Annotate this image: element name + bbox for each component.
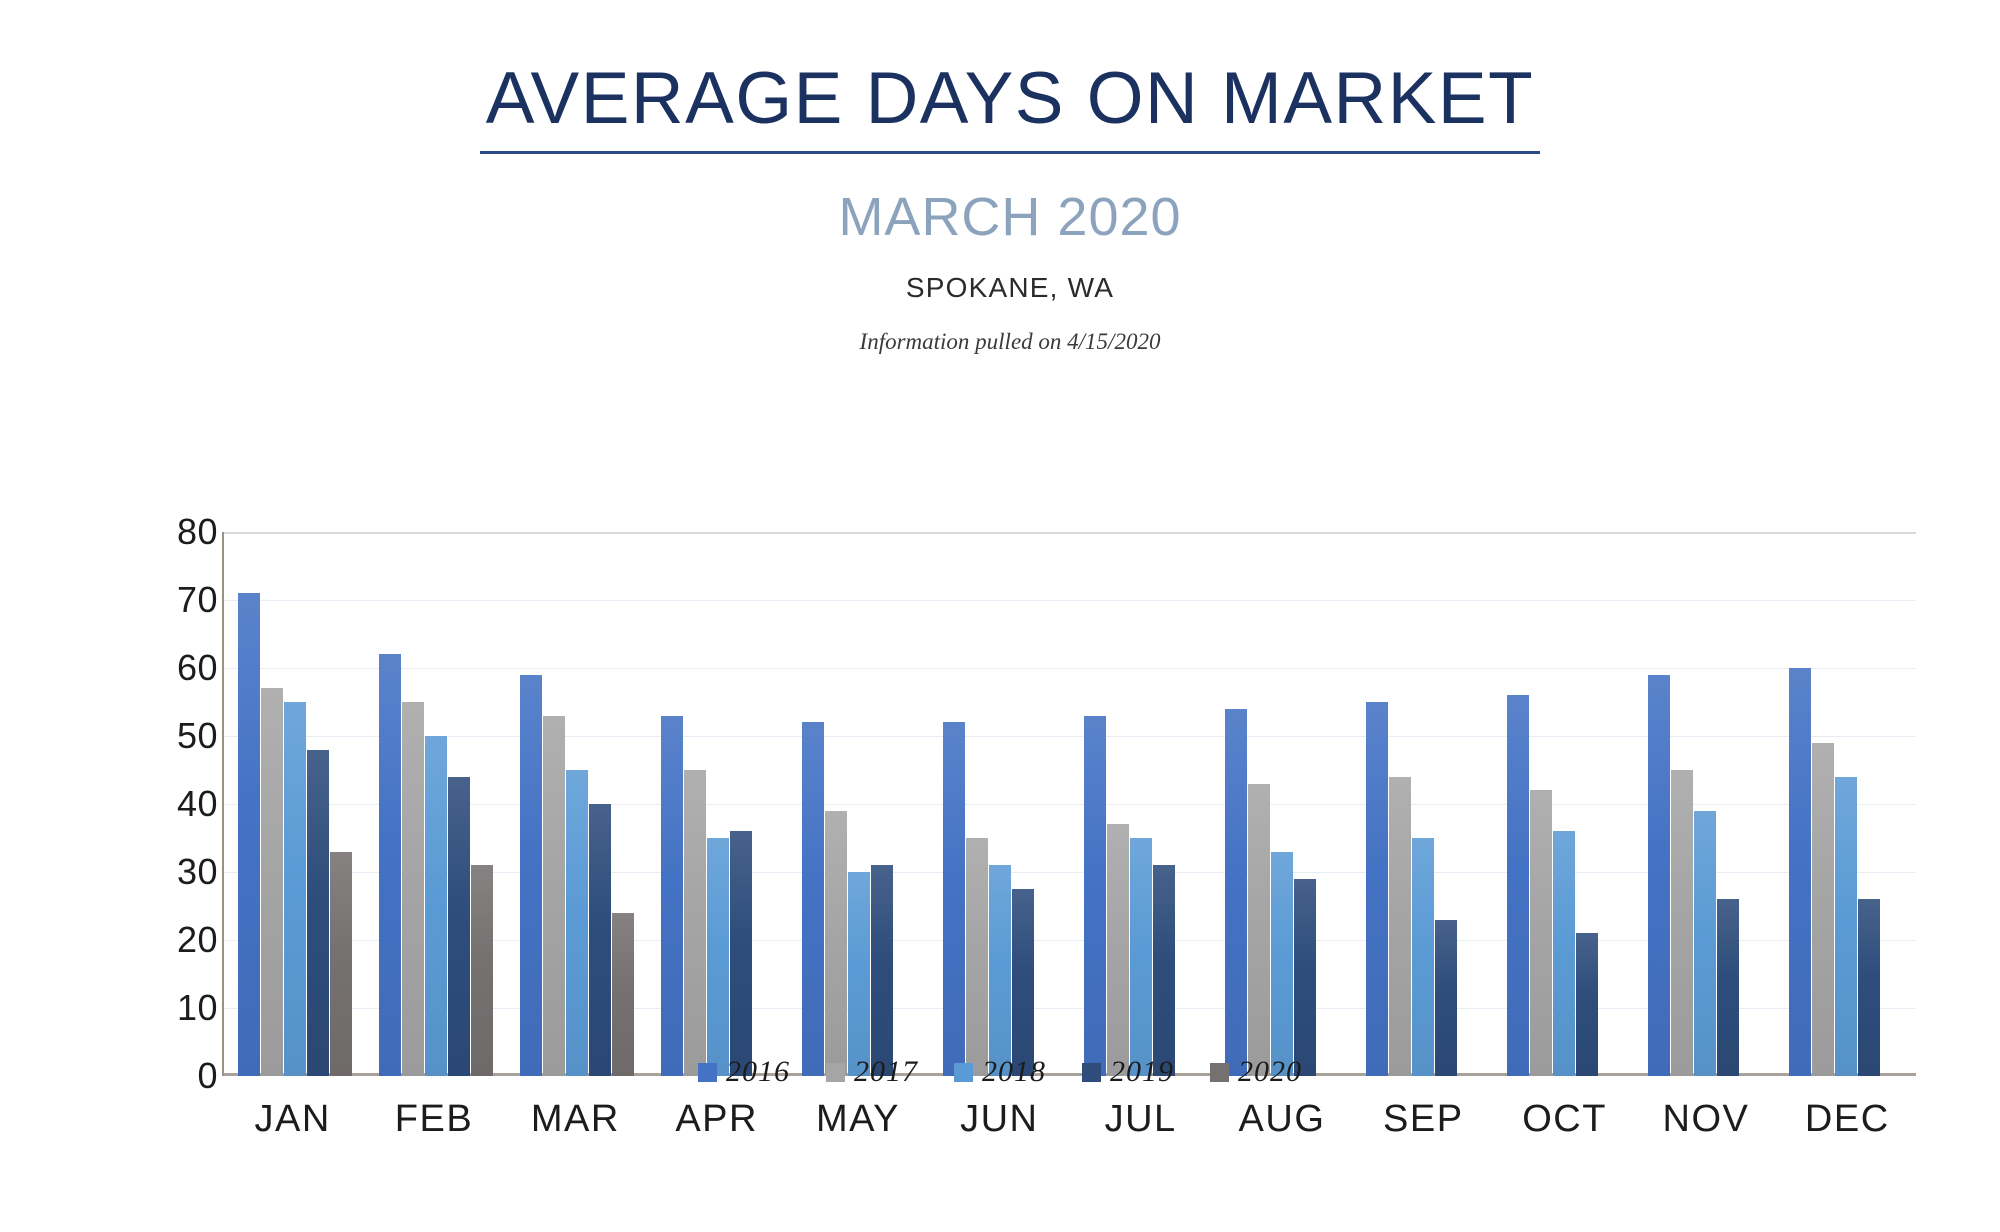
bar-group-apr [647,532,788,1076]
bar-group-dec [1775,532,1916,1076]
bar-2017-jul[interactable] [1107,824,1129,1076]
bar-2016-dec[interactable] [1789,668,1811,1076]
x-axis-label-may: MAY [787,1098,928,1141]
bar-2019-jan[interactable] [307,750,329,1076]
bar-2018-jul[interactable] [1130,838,1152,1076]
bar-group-mar [506,532,647,1076]
bar-2018-feb[interactable] [425,736,447,1076]
legend-swatch-icon-2017 [826,1063,845,1082]
report-location: SPOKANE, WA [0,274,2000,302]
legend-label-2017: 2017 [854,1055,918,1089]
plot-canvas [222,532,1920,1076]
bar-group-oct [1493,532,1634,1076]
page-title: AVERAGE DAYS ON MARKET [480,62,1540,154]
legend-label-2020: 2020 [1238,1055,1302,1089]
plot-area: 80706050403020100 [128,532,1918,1092]
bar-group-nov [1634,532,1775,1076]
x-axis-label-sep: SEP [1353,1098,1494,1141]
bar-2016-sep[interactable] [1366,702,1388,1076]
bar-2017-jun[interactable] [966,838,988,1076]
bar-2018-aug[interactable] [1271,852,1293,1076]
x-axis-label-dec: DEC [1777,1098,1918,1141]
legend-label-2018: 2018 [982,1055,1046,1089]
bar-group-jan [224,532,365,1076]
bar-2017-jan[interactable] [261,688,283,1076]
report-period-subtitle: MARCH 2020 [0,190,2000,244]
bar-2018-may[interactable] [848,872,870,1076]
bar-2017-dec[interactable] [1812,743,1834,1076]
legend-label-2016: 2016 [726,1055,790,1089]
legend-swatch-icon-2016 [698,1063,717,1082]
bar-2020-jan[interactable] [330,852,352,1076]
bar-2017-apr[interactable] [684,770,706,1076]
bar-group-aug [1211,532,1352,1076]
bar-2018-dec[interactable] [1835,777,1857,1076]
legend-label-2019: 2019 [1110,1055,1174,1089]
bar-2019-nov[interactable] [1717,899,1739,1076]
x-axis-label-nov: NOV [1635,1098,1776,1141]
y-axis-tick-20: 20 [177,919,218,961]
bar-2019-jun[interactable] [1012,889,1034,1076]
bar-2017-sep[interactable] [1389,777,1411,1076]
x-axis-label-jan: JAN [222,1098,363,1141]
legend-item-2017[interactable]: 2017 [826,1055,918,1089]
bar-2018-nov[interactable] [1694,811,1716,1076]
bar-2020-feb[interactable] [471,865,493,1076]
bar-2018-jan[interactable] [284,702,306,1076]
bar-2017-feb[interactable] [402,702,424,1076]
bar-2016-jan[interactable] [238,593,260,1076]
legend-item-2019[interactable]: 2019 [1082,1055,1174,1089]
data-pulled-note: Information pulled on 4/15/2020 [0,330,2000,353]
x-axis-label-aug: AUG [1211,1098,1352,1141]
bar-2016-jun[interactable] [943,722,965,1076]
bar-2016-apr[interactable] [661,716,683,1076]
legend-swatch-icon-2020 [1210,1063,1229,1082]
bar-2019-sep[interactable] [1435,920,1457,1076]
x-axis-label-jul: JUL [1070,1098,1211,1141]
bar-2019-mar[interactable] [589,804,611,1076]
bar-2018-mar[interactable] [566,770,588,1076]
y-axis-tick-30: 30 [177,851,218,893]
legend-item-2020[interactable]: 2020 [1210,1055,1302,1089]
report-header: AVERAGE DAYS ON MARKET MARCH 2020 SPOKAN… [0,0,2000,353]
bar-2016-oct[interactable] [1507,695,1529,1076]
x-axis-label-jun: JUN [929,1098,1070,1141]
bar-group-sep [1352,532,1493,1076]
y-axis-tick-50: 50 [177,715,218,757]
x-axis-label-feb: FEB [363,1098,504,1141]
bar-2017-aug[interactable] [1248,784,1270,1076]
legend-swatch-icon-2018 [954,1063,973,1082]
title-container: AVERAGE DAYS ON MARKET [0,62,2000,154]
bar-2016-nov[interactable] [1648,675,1670,1076]
bar-2018-sep[interactable] [1412,838,1434,1076]
bar-2019-dec[interactable] [1858,899,1880,1076]
y-axis-tick-70: 70 [177,579,218,621]
bar-2016-may[interactable] [802,722,824,1076]
x-axis-label-oct: OCT [1494,1098,1635,1141]
bars-layer [224,532,1916,1076]
bar-2017-mar[interactable] [543,716,565,1076]
bar-2016-aug[interactable] [1225,709,1247,1076]
y-axis-tick-80: 80 [177,511,218,553]
bar-2016-feb[interactable] [379,654,401,1076]
bar-2018-apr[interactable] [707,838,729,1076]
y-axis-tick-60: 60 [177,647,218,689]
x-axis-label-apr: APR [646,1098,787,1141]
bar-2017-nov[interactable] [1671,770,1693,1076]
bar-2018-jun[interactable] [989,865,1011,1076]
bar-2019-jul[interactable] [1153,865,1175,1076]
bar-group-may [788,532,929,1076]
bar-2016-jul[interactable] [1084,716,1106,1076]
x-axis-tick-labels: JANFEBMARAPRMAYJUNJULAUGSEPOCTNOVDEC [222,1098,1918,1141]
legend-swatch-icon-2019 [1082,1063,1101,1082]
legend-item-2018[interactable]: 2018 [954,1055,1046,1089]
bar-2019-may[interactable] [871,865,893,1076]
legend-item-2016[interactable]: 2016 [698,1055,790,1089]
bar-2017-oct[interactable] [1530,790,1552,1076]
chart-legend: 20162017201820192020 [0,1055,2000,1089]
bar-group-jul [1070,532,1211,1076]
bar-2019-apr[interactable] [730,831,752,1076]
y-axis-tick-40: 40 [177,783,218,825]
bar-2017-may[interactable] [825,811,847,1076]
bar-2019-feb[interactable] [448,777,470,1076]
bar-2019-aug[interactable] [1294,879,1316,1076]
bar-chart: 80706050403020100 20162017201820192020 J… [0,510,2000,1130]
bar-group-feb [365,532,506,1076]
bar-2018-oct[interactable] [1553,831,1575,1076]
x-axis-label-mar: MAR [505,1098,646,1141]
bar-2016-mar[interactable] [520,675,542,1076]
y-axis-tick-10: 10 [177,987,218,1029]
bar-group-jun [929,532,1070,1076]
bar-2020-mar[interactable] [612,913,634,1076]
